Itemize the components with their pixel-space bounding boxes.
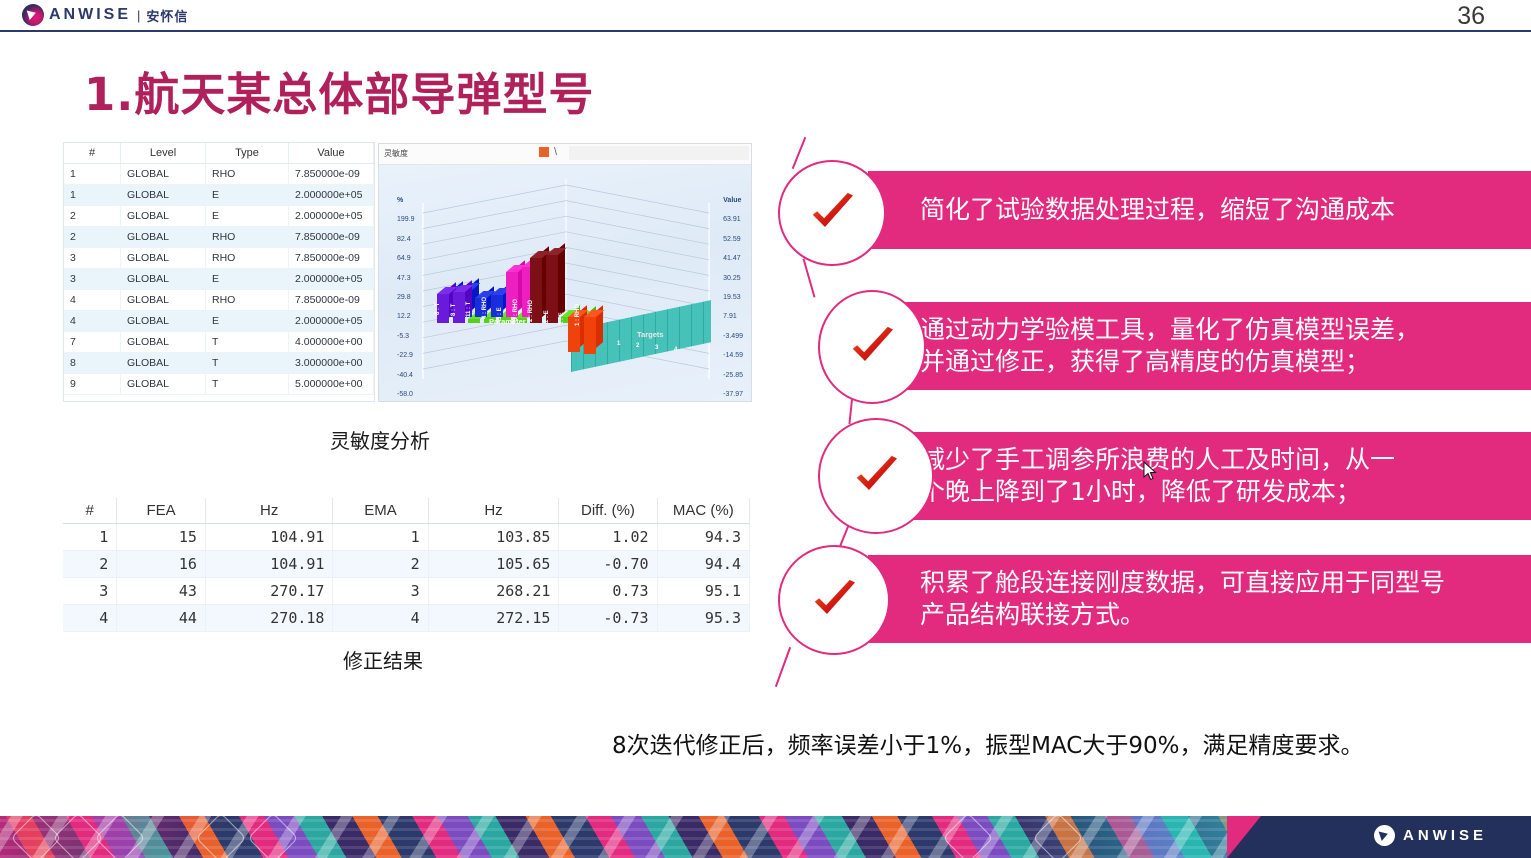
column-header-fea: FEA — [117, 498, 206, 524]
table-row[interactable]: 444270.184272.15-0.7395.3 — [63, 605, 750, 632]
table-cell: -0.70 — [559, 551, 657, 578]
brand-logo-separator: | — [137, 8, 140, 23]
callout-line: 简化了试验数据处理过程，缩短了沟通成本 — [920, 194, 1395, 226]
table-cell: 268.21 — [428, 578, 559, 605]
callout-line: 减少了手工调参所浪费的人工及时间，从一 — [920, 444, 1395, 476]
table-cell: 4 — [63, 605, 117, 632]
column-header-mac: MAC (%) — [657, 498, 749, 524]
table-cell: 94.3 — [657, 524, 749, 551]
table-cell: 3 — [64, 269, 121, 290]
column-header-ema: EMA — [333, 498, 428, 524]
check-icon — [844, 319, 900, 375]
table-cell: 2.000000e+05 — [289, 206, 374, 227]
callout-bubble-1 — [778, 160, 886, 266]
chart-target-tick: 2 — [636, 343, 639, 349]
footer-bar: ANWISE — [0, 816, 1531, 858]
correction-figure-caption: 修正结果 — [343, 645, 423, 674]
chart-parameter-tick: 2 : RHO — [528, 300, 534, 322]
table-cell: GLOBAL — [121, 290, 206, 311]
table-cell: 7.850000e-09 — [289, 227, 374, 248]
table-cell: 7.850000e-09 — [289, 248, 374, 269]
table-cell: 104.91 — [205, 551, 333, 578]
table-cell: 1 — [64, 164, 121, 185]
table-cell: 2.000000e+05 — [289, 269, 374, 290]
chart-axis-label-targets: Targets — [637, 330, 664, 339]
table-cell: 4 — [333, 605, 428, 632]
table-cell: 7 — [64, 332, 121, 353]
table-cell: 1 — [63, 524, 117, 551]
callout-connector-line — [775, 647, 791, 687]
chart-bar — [468, 319, 480, 323]
table-cell: RHO — [206, 164, 289, 185]
table-row[interactable]: 4GLOBALRHO7.850000e-09 — [64, 290, 374, 311]
column-header-type: Type — [206, 143, 289, 164]
table-cell: 7.850000e-09 — [289, 164, 374, 185]
table-cell: T — [206, 353, 289, 374]
table-cell: GLOBAL — [121, 227, 206, 248]
chart-gridlines — [379, 165, 752, 402]
callout-text-2: 通过动力学验模工具，量化了仿真模型误差，并通过修正，获得了高精度的仿真模型； — [920, 314, 1420, 378]
mouse-cursor — [1143, 461, 1157, 481]
callout-banner-1[interactable]: 简化了试验数据处理过程，缩短了沟通成本 — [868, 171, 1531, 249]
chart-parameter-tick: 2 : E — [544, 311, 550, 324]
chart-target-tick: 4 — [674, 347, 677, 353]
table-cell: 3 — [333, 578, 428, 605]
brand-logo-word: ANWISE — [49, 6, 131, 24]
table-cell: 43 — [117, 578, 206, 605]
column-header-level: Level — [121, 143, 206, 164]
table-cell: GLOBAL — [121, 311, 206, 332]
table-cell: 4.000000e+00 — [289, 332, 374, 353]
table-row[interactable]: 2GLOBALRHO7.850000e-09 — [64, 227, 374, 248]
summary-note: 8次迭代修正后，频率误差小于1%，振型MAC大于90%，满足精度要求。 — [612, 726, 1363, 760]
callout-text-3: 减少了手工调参所浪费的人工及时间，从一个晚上降到了1小时，降低了研发成本； — [920, 444, 1395, 508]
chart-target-tick: 3 — [655, 345, 658, 351]
table-cell: 1 — [64, 185, 121, 206]
table-cell: 2.000000e+05 — [289, 311, 374, 332]
sensitivity-figure-caption: 灵敏度分析 — [330, 425, 430, 454]
chart-parameter-tick: 1 : E — [559, 312, 565, 325]
chart-bar-face — [584, 317, 596, 354]
check-icon — [848, 448, 904, 504]
table-cell: 1 — [333, 524, 428, 551]
table-cell: 3 — [64, 248, 121, 269]
table-cell: 270.17 — [205, 578, 333, 605]
column-header-index: # — [63, 498, 117, 524]
callout-banner-2[interactable]: 通过动力学验模工具，量化了仿真模型误差，并通过修正，获得了高精度的仿真模型； — [868, 302, 1531, 390]
table-cell: 3.000000e+00 — [289, 353, 374, 374]
table-cell: 1.02 — [559, 524, 657, 551]
callout-line: 并通过修正，获得了高精度的仿真模型； — [920, 346, 1420, 378]
column-header-value: Value — [289, 143, 374, 164]
table-cell: 44 — [117, 605, 206, 632]
table-cell: -0.73 — [559, 605, 657, 632]
table-cell: GLOBAL — [121, 206, 206, 227]
table-cell: GLOBAL — [121, 374, 206, 395]
table-cell: T — [206, 374, 289, 395]
table-cell: 103.85 — [428, 524, 559, 551]
table-cell: 7.850000e-09 — [289, 290, 374, 311]
chart-bar-face — [468, 319, 480, 323]
table-row[interactable]: 8GLOBALT3.000000e+00 — [64, 353, 374, 374]
callout-banner-3[interactable]: 减少了手工调参所浪费的人工及时间，从一个晚上降到了1小时，降低了研发成本； — [868, 432, 1531, 520]
chart-plot-area: %199.982.464.947.329.812.2-5.3-22.9-40.4… — [379, 165, 751, 402]
table-cell: 95.1 — [657, 578, 749, 605]
callout-text-4: 积累了舱段连接刚度数据，可直接应用于同型号产品结构联接方式。 — [920, 567, 1445, 631]
table-row[interactable]: 343270.173268.210.7395.1 — [63, 578, 750, 605]
table-cell: E — [206, 311, 289, 332]
sensitivity-table: # Level Type Value 1GLOBALRHO7.850000e-0… — [63, 142, 375, 402]
table-cell: GLOBAL — [121, 269, 206, 290]
callout-line: 个晚上降到了1小时，降低了研发成本； — [920, 476, 1395, 508]
correction-table: # FEA Hz EMA Hz Diff. (%) MAC (%) 115104… — [63, 498, 750, 632]
callout-bubble-4 — [778, 545, 890, 655]
header-divider — [0, 30, 1531, 32]
table-cell: E — [206, 269, 289, 290]
table-row[interactable]: 1GLOBALE2.000000e+05 — [64, 185, 374, 206]
chart-bar — [584, 317, 596, 354]
table-cell: GLOBAL — [121, 164, 206, 185]
chart-target-tick: 1 — [617, 341, 620, 347]
table-row[interactable]: 115104.911103.851.0294.3 — [63, 524, 750, 551]
footer-decoration — [0, 816, 1270, 858]
chart-window-title: 灵敏度 — [384, 148, 408, 159]
chart-tab-marker-icon[interactable] — [539, 147, 549, 157]
table-cell: GLOBAL — [121, 185, 206, 206]
table-cell: 5.000000e+00 — [289, 374, 374, 395]
footer-brand-panel: ANWISE — [1261, 816, 1531, 858]
table-cell: GLOBAL — [121, 353, 206, 374]
table-header-row: # FEA Hz EMA Hz Diff. (%) MAC (%) — [63, 498, 750, 524]
callout-text-1: 简化了试验数据处理过程，缩短了沟通成本 — [920, 194, 1395, 226]
column-header-index: # — [64, 143, 121, 164]
chart-axis-label-parameter: Parameter — [489, 317, 526, 326]
table-cell: E — [206, 206, 289, 227]
callout-line: 通过动力学验模工具，量化了仿真模型误差， — [920, 314, 1420, 346]
table-cell: 4 — [64, 311, 121, 332]
table-cell: 95.3 — [657, 605, 749, 632]
table-cell: 270.18 — [205, 605, 333, 632]
anwise-logo-icon — [1374, 825, 1395, 846]
table-row[interactable]: 216104.912105.65-0.7094.4 — [63, 551, 750, 578]
table-cell: 2.000000e+05 — [289, 185, 374, 206]
check-icon — [806, 572, 862, 628]
table-cell: 2 — [64, 227, 121, 248]
table-row[interactable]: 7GLOBALT4.000000e+00 — [64, 332, 374, 353]
callout-line: 产品结构联接方式。 — [920, 599, 1445, 631]
table-cell: 2 — [63, 551, 117, 578]
table-cell: 8 — [64, 353, 121, 374]
table-cell: 104.91 — [205, 524, 333, 551]
page-title: 1.航天某总体部导弹型号 — [84, 58, 594, 123]
top-header-bar: ANWISE | 安怀信 36 — [0, 0, 1531, 30]
table-cell: T — [206, 332, 289, 353]
table-cell: RHO — [206, 290, 289, 311]
table-cell: RHO — [206, 227, 289, 248]
footer-logo-word: ANWISE — [1403, 827, 1487, 844]
table-cell: 3 — [63, 578, 117, 605]
table-cell: GLOBAL — [121, 248, 206, 269]
table-cell: 2 — [333, 551, 428, 578]
table-cell: 94.4 — [657, 551, 749, 578]
brand-logo-chinese: 安怀信 — [146, 6, 188, 25]
column-header-fea-hz: Hz — [205, 498, 333, 524]
column-header-diff: Diff. (%) — [559, 498, 657, 524]
table-cell: 105.65 — [428, 551, 559, 578]
footer-logo: ANWISE — [1374, 825, 1487, 846]
table-cell: GLOBAL — [121, 332, 206, 353]
chart-parameter-tick: 4 : RHO — [482, 297, 488, 319]
table-cell: E — [206, 185, 289, 206]
chart-breadcrumb-separator: \ — [554, 146, 557, 158]
callout-connector-line — [803, 258, 816, 297]
chart-title-bar: 灵敏度 \ — [379, 144, 751, 165]
callout-bubble-2 — [818, 290, 926, 404]
table-cell: 272.15 — [428, 605, 559, 632]
table-cell: 15 — [117, 524, 206, 551]
table-row[interactable]: 3GLOBALE2.000000e+05 — [64, 269, 374, 290]
table-header-row: # Level Type Value — [64, 143, 374, 164]
callout-bubble-3 — [818, 418, 934, 534]
check-icon — [804, 185, 860, 241]
brand-logo: ANWISE | 安怀信 — [22, 4, 188, 26]
table-row[interactable]: 9GLOBALT5.000000e+00 — [64, 374, 374, 395]
chart-toolbar-strip — [569, 146, 749, 160]
table-row[interactable]: 4GLOBALE2.000000e+05 — [64, 311, 374, 332]
callout-connector-line — [792, 137, 807, 169]
chart-parameter-tick: 1 : RHO — [575, 304, 581, 326]
table-cell: 4 — [64, 290, 121, 311]
table-cell: 0.73 — [559, 578, 657, 605]
callout-banner-4[interactable]: 积累了舱段连接刚度数据，可直接应用于同型号产品结构联接方式。 — [868, 555, 1531, 643]
table-row[interactable]: 3GLOBALRHO7.850000e-09 — [64, 248, 374, 269]
table-cell: 16 — [117, 551, 206, 578]
chart-parameter-tick: 11 : T — [466, 302, 472, 317]
chart-parameter-tick: 8 : T — [451, 304, 457, 316]
table-cell: 2 — [64, 206, 121, 227]
table-cell: 9 — [64, 374, 121, 395]
callout-line: 积累了舱段连接刚度数据，可直接应用于同型号 — [920, 567, 1445, 599]
sensitivity-chart-panel[interactable]: 灵敏度 \ %199.982.464.947.329.812.2-5.3-22.… — [378, 143, 752, 402]
conclusion-callout-list: 简化了试验数据处理过程，缩短了沟通成本 通过动力学验模工具，量化了仿真模型误差，… — [770, 150, 1531, 670]
anwise-logo-icon — [22, 4, 44, 26]
page-number: 36 — [1457, 2, 1485, 31]
table-row[interactable]: 1GLOBALRHO7.850000e-09 — [64, 164, 374, 185]
table-cell: RHO — [206, 248, 289, 269]
column-header-ema-hz: Hz — [428, 498, 559, 524]
chart-parameter-tick: 8 : T — [435, 303, 441, 315]
table-row[interactable]: 2GLOBALE2.000000e+05 — [64, 206, 374, 227]
